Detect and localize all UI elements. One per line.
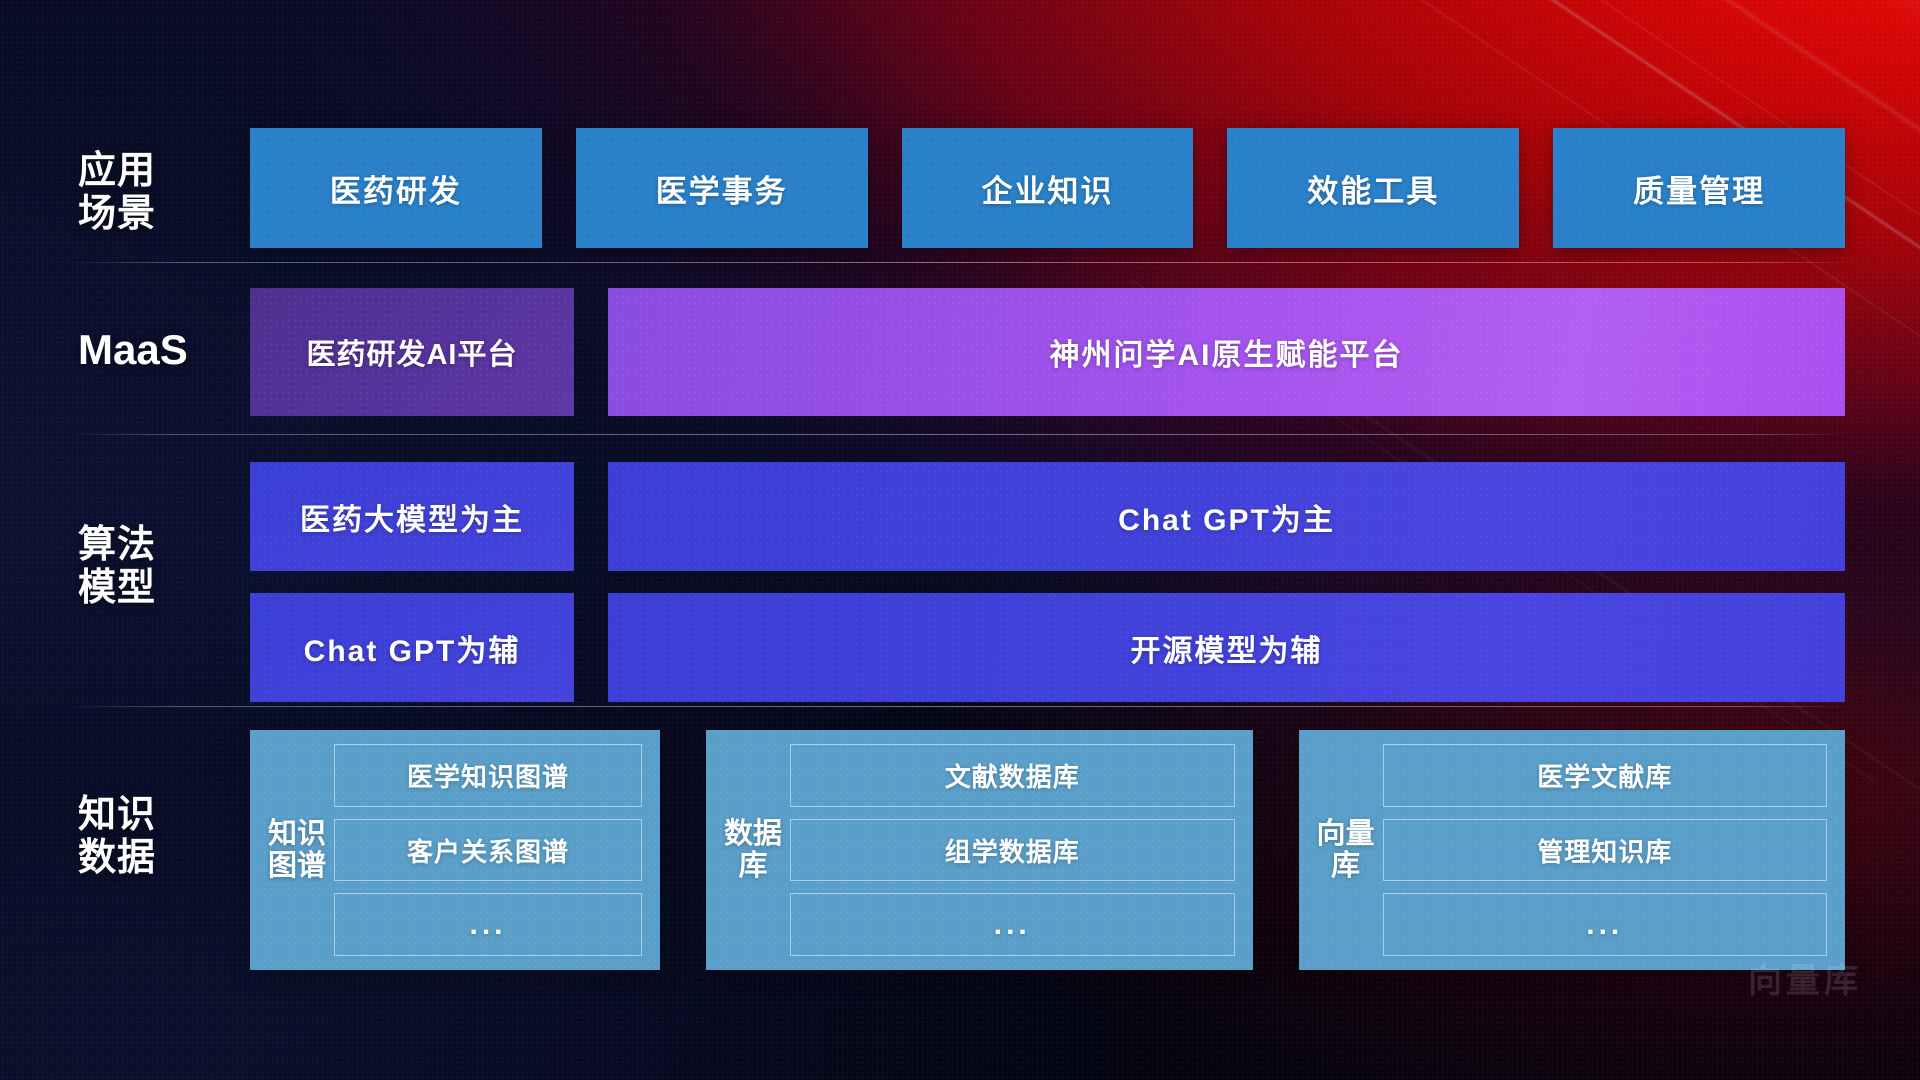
knowledge-item-list: 医学知识图谱 客户关系图谱 ... bbox=[328, 744, 642, 956]
app-box-label: 医学事务 bbox=[656, 166, 788, 211]
row-maas: MaaS 医药研发AI平台 神州问学AI原生赋能平台 bbox=[0, 288, 1920, 416]
algo-cell-label: Chat GPT为辅 bbox=[304, 626, 521, 670]
knowledge-group-database: 数据库 文献数据库 组学数据库 ... bbox=[706, 730, 1253, 970]
knowledge-group-label-vector-store: 向量库 bbox=[1315, 818, 1377, 883]
maas-box-track: 医药研发AI平台 神州问学AI原生赋能平台 bbox=[250, 288, 1845, 416]
knowledge-item-label: 组学数据库 bbox=[945, 832, 1080, 869]
app-box-label: 医药研发 bbox=[330, 166, 462, 211]
knowledge-item-medical-literature-store[interactable]: 医学文献库 bbox=[1383, 744, 1828, 807]
row-label-application-line1: 应用 bbox=[78, 150, 208, 193]
knowledge-item-more-3[interactable]: ... bbox=[1383, 893, 1828, 956]
knowledge-item-label: ... bbox=[1586, 908, 1623, 942]
algorithm-row-primary: 医药大模型为主 Chat GPT为主 bbox=[250, 462, 1845, 571]
algo-box-chatgpt-primary[interactable]: Chat GPT为主 bbox=[608, 462, 1845, 571]
knowledge-group-label-knowledge-graph: 知识图谱 bbox=[266, 818, 328, 883]
knowledge-item-management-knowledge-store[interactable]: 管理知识库 bbox=[1383, 819, 1828, 882]
row-label-knowledge-line2: 数据 bbox=[78, 837, 208, 880]
application-box-track: 医药研发 医学事务 企业知识 效能工具 质量管理 bbox=[250, 128, 1845, 248]
knowledge-item-label: ... bbox=[469, 908, 506, 942]
app-box-efficiency-tools[interactable]: 效能工具 bbox=[1227, 128, 1519, 248]
maas-box-shenzhou-wenxue-platform[interactable]: 神州问学AI原生赋能平台 bbox=[608, 288, 1845, 416]
algo-box-chatgpt-secondary[interactable]: Chat GPT为辅 bbox=[250, 593, 574, 702]
app-box-label: 效能工具 bbox=[1307, 166, 1439, 211]
knowledge-item-more-2[interactable]: ... bbox=[790, 893, 1235, 956]
app-box-medical-affairs[interactable]: 医学事务 bbox=[576, 128, 868, 248]
row-knowledge-data: 知识 数据 知识图谱 医学知识图谱 客户关系图谱 ... bbox=[0, 730, 1920, 970]
row-label-application: 应用 场景 bbox=[78, 150, 208, 235]
maas-left-label: 医药研发AI平台 bbox=[306, 331, 517, 373]
algo-box-opensource-secondary[interactable]: 开源模型为辅 bbox=[608, 593, 1845, 702]
app-box-quality-management[interactable]: 质量管理 bbox=[1553, 128, 1845, 248]
algo-box-pharma-llm-primary[interactable]: 医药大模型为主 bbox=[250, 462, 574, 571]
knowledge-item-label: 客户关系图谱 bbox=[407, 832, 569, 869]
knowledge-item-more-1[interactable]: ... bbox=[334, 893, 642, 956]
divider-algorithm-knowledge bbox=[70, 706, 1850, 707]
algorithm-grid: 医药大模型为主 Chat GPT为主 Chat GPT为辅 开源模型为辅 bbox=[250, 462, 1845, 702]
knowledge-item-list: 医学文献库 管理知识库 ... bbox=[1377, 744, 1828, 956]
row-label-algorithm-line1: 算法 bbox=[78, 524, 208, 567]
knowledge-item-label: 医学知识图谱 bbox=[407, 757, 569, 794]
knowledge-group-track: 知识图谱 医学知识图谱 客户关系图谱 ... 数据库 bbox=[250, 730, 1845, 970]
knowledge-group-label-database: 数据库 bbox=[722, 818, 784, 883]
algorithm-row-secondary: Chat GPT为辅 开源模型为辅 bbox=[250, 593, 1845, 702]
maas-box-pharma-ai-platform[interactable]: 医药研发AI平台 bbox=[250, 288, 574, 416]
knowledge-item-label: ... bbox=[994, 908, 1031, 942]
knowledge-item-omics-database[interactable]: 组学数据库 bbox=[790, 819, 1235, 882]
row-label-knowledge-line1: 知识 bbox=[78, 794, 208, 837]
maas-right-label: 神州问学AI原生赋能平台 bbox=[1050, 330, 1404, 374]
knowledge-item-label: 医学文献库 bbox=[1537, 757, 1672, 794]
knowledge-item-literature-database[interactable]: 文献数据库 bbox=[790, 744, 1235, 807]
knowledge-item-label: 管理知识库 bbox=[1537, 832, 1672, 869]
knowledge-item-customer-relation-graph[interactable]: 客户关系图谱 bbox=[334, 819, 642, 882]
knowledge-item-medical-knowledge-graph[interactable]: 医学知识图谱 bbox=[334, 744, 642, 807]
app-box-label: 质量管理 bbox=[1633, 166, 1765, 211]
knowledge-item-label: 文献数据库 bbox=[945, 757, 1080, 794]
row-application-scenarios: 应用 场景 医药研发 医学事务 企业知识 效能工具 质量管理 bbox=[0, 128, 1920, 248]
app-box-enterprise-knowledge[interactable]: 企业知识 bbox=[902, 128, 1194, 248]
knowledge-group-vector-store: 向量库 医学文献库 管理知识库 ... bbox=[1299, 730, 1846, 970]
architecture-diagram: 应用 场景 医药研发 医学事务 企业知识 效能工具 质量管理 MaaS bbox=[0, 0, 1920, 1080]
row-label-algorithm-line2: 模型 bbox=[78, 567, 208, 610]
row-algorithm-models: 算法 模型 医药大模型为主 Chat GPT为主 Chat GPT为辅 开源模型… bbox=[0, 462, 1920, 702]
app-box-label: 企业知识 bbox=[981, 166, 1113, 211]
divider-application-maas bbox=[70, 262, 1850, 263]
app-box-pharma-rnd[interactable]: 医药研发 bbox=[250, 128, 542, 248]
row-label-application-line2: 场景 bbox=[78, 193, 208, 236]
algo-cell-label: 开源模型为辅 bbox=[1131, 626, 1323, 670]
divider-maas-algorithm bbox=[70, 434, 1850, 435]
row-label-knowledge: 知识 数据 bbox=[78, 794, 208, 879]
row-label-maas: MaaS bbox=[78, 326, 208, 373]
knowledge-group-knowledge-graph: 知识图谱 医学知识图谱 客户关系图谱 ... bbox=[250, 730, 660, 970]
algo-cell-label: Chat GPT为主 bbox=[1118, 495, 1335, 539]
knowledge-item-list: 文献数据库 组学数据库 ... bbox=[784, 744, 1235, 956]
row-label-algorithm: 算法 模型 bbox=[78, 524, 208, 609]
algo-cell-label: 医药大模型为主 bbox=[300, 495, 524, 539]
